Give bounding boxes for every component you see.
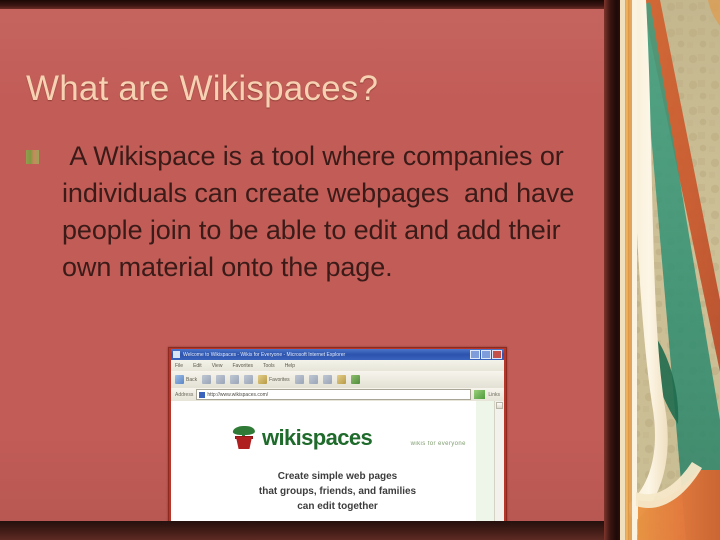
decorative-side-border xyxy=(620,0,720,540)
refresh-icon[interactable] xyxy=(230,375,239,384)
window-controls xyxy=(470,350,502,359)
embedded-browser-screenshot: Welcome to Wikispaces - Wikis for Everyo… xyxy=(168,347,507,533)
messenger-icon[interactable] xyxy=(351,375,360,384)
scroll-up-arrow-icon[interactable] xyxy=(496,402,503,409)
headline-line-1: Create simple web pages xyxy=(211,469,464,484)
browser-page-content: wikispaces wikis for everyone Create sim… xyxy=(171,401,504,528)
slide-bottom-frame-band xyxy=(0,521,612,540)
browser-titlebar: Welcome to Wikispaces - Wikis for Everyo… xyxy=(171,349,504,360)
favorites-button[interactable]: Favorites xyxy=(258,375,290,384)
pot-shape xyxy=(236,437,252,449)
minimize-button[interactable] xyxy=(470,350,480,359)
menu-item-file[interactable]: File xyxy=(175,363,183,369)
print-icon[interactable] xyxy=(323,375,332,384)
page-headline: Create simple web pages that groups, fri… xyxy=(211,469,464,514)
slide-content-area: What are Wikispaces? A Wikispace is a to… xyxy=(0,8,606,522)
maximize-button[interactable] xyxy=(481,350,491,359)
menu-item-edit[interactable]: Edit xyxy=(193,363,202,369)
address-label: Address xyxy=(175,392,193,398)
browser-title-text: Welcome to Wikispaces - Wikis for Everyo… xyxy=(183,352,470,358)
favicon-icon xyxy=(199,392,205,398)
back-button-label: Back xyxy=(186,377,197,383)
slide-body-block: A Wikispace is a tool where companies or… xyxy=(26,138,582,286)
plant-in-pot-icon xyxy=(231,425,257,451)
links-label[interactable]: Links xyxy=(488,392,500,398)
back-button[interactable]: Back xyxy=(175,375,197,384)
presentation-slide: What are Wikispaces? A Wikispace is a to… xyxy=(0,0,720,540)
page-title: What are Wikispaces? xyxy=(26,67,586,111)
green-square-bullet-icon xyxy=(26,150,39,164)
forward-arrow-icon[interactable] xyxy=(202,375,211,384)
menu-item-favorites[interactable]: Favorites xyxy=(232,363,253,369)
browser-addressbar[interactable]: Address http://www.wikispaces.com/ Links xyxy=(171,388,504,401)
browser-window: Welcome to Wikispaces - Wikis for Everyo… xyxy=(171,349,504,528)
vertical-scrollbar[interactable] xyxy=(494,401,504,528)
browser-app-icon xyxy=(173,351,180,358)
address-url-text: http://www.wikispaces.com/ xyxy=(207,392,268,398)
page-side-rail xyxy=(476,401,494,528)
home-icon[interactable] xyxy=(244,375,253,384)
menu-item-view[interactable]: View xyxy=(212,363,223,369)
history-icon[interactable] xyxy=(295,375,304,384)
decorative-border-artwork xyxy=(620,0,720,540)
list-item: A Wikispace is a tool where companies or… xyxy=(26,138,582,286)
menu-item-help[interactable]: Help xyxy=(285,363,295,369)
back-arrow-icon xyxy=(175,375,184,384)
wikispaces-logo: wikispaces wikis for everyone xyxy=(231,425,466,451)
edit-icon[interactable] xyxy=(337,375,346,384)
stop-icon[interactable] xyxy=(216,375,225,384)
bullet-text: A Wikispace is a tool where companies or… xyxy=(26,138,582,286)
mail-icon[interactable] xyxy=(309,375,318,384)
browser-toolbar[interactable]: Back Favorites xyxy=(171,371,504,388)
logo-wordmark: wikispaces xyxy=(262,425,372,450)
close-button[interactable] xyxy=(492,350,502,359)
logo-text-block: wikispaces wikis for everyone xyxy=(262,425,466,450)
headline-line-3: can edit together xyxy=(211,499,464,514)
headline-line-2: that groups, friends, and families xyxy=(211,484,464,499)
favorites-button-label: Favorites xyxy=(269,377,290,383)
go-button[interactable] xyxy=(474,390,485,399)
slide-top-frame-band xyxy=(0,0,606,9)
address-input[interactable]: http://www.wikispaces.com/ xyxy=(196,389,471,400)
star-icon xyxy=(258,375,267,384)
browser-menubar[interactable]: File Edit View Favorites Tools Help xyxy=(171,360,504,371)
logo-tagline: wikis for everyone xyxy=(411,441,466,447)
menu-item-tools[interactable]: Tools xyxy=(263,363,275,369)
